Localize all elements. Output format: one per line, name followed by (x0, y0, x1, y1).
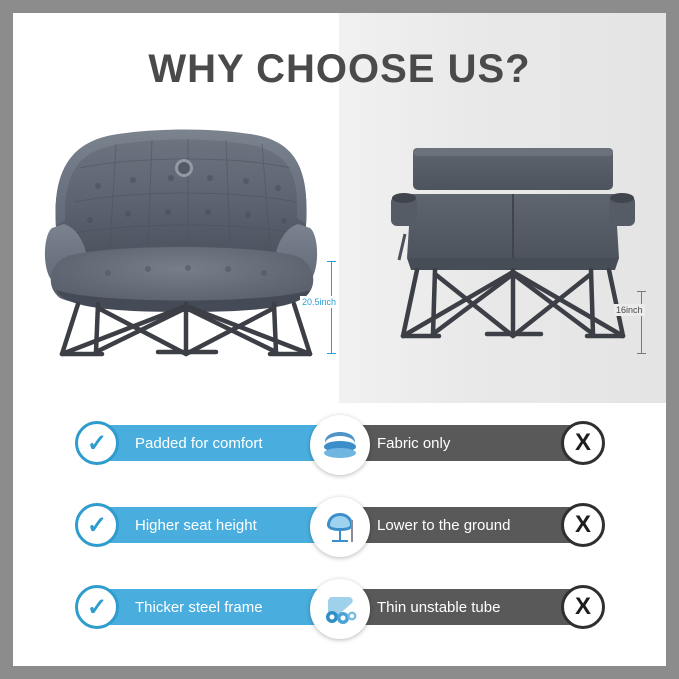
left-product-image (38, 108, 328, 358)
check-icon: ✓ (75, 503, 119, 547)
comparison-row: Higher seat height ✓ Lower to the ground… (75, 503, 605, 551)
cross-icon: X (561, 503, 605, 547)
cross-icon: X (561, 421, 605, 465)
cross-symbol: X (575, 511, 591, 539)
check-icon: ✓ (75, 421, 119, 465)
comparison-row: Thicker steel frame ✓ Thin unstable tube (75, 585, 605, 633)
pro-label: Padded for comfort (135, 435, 263, 452)
cross-icon: X (561, 585, 605, 629)
pro-pill: Padded for comfort (97, 425, 325, 461)
cross-symbol: X (575, 429, 591, 457)
con-label: Lower to the ground (377, 517, 510, 534)
steel-tube-icon (310, 579, 370, 639)
cushion-layers-icon (310, 415, 370, 475)
cross-symbol: X (575, 593, 591, 621)
con-pill: Fabric only (355, 425, 583, 461)
check-symbol: ✓ (87, 593, 107, 622)
comparison-row: Padded for comfort ✓ Fabric only X (75, 421, 605, 469)
con-label: Thin unstable tube (377, 599, 500, 616)
con-label: Fabric only (377, 435, 450, 452)
check-symbol: ✓ (87, 511, 107, 540)
comparison-table: Padded for comfort ✓ Fabric only X (13, 411, 666, 666)
pro-pill: Thicker steel frame (97, 589, 325, 625)
pro-pill: Higher seat height (97, 507, 325, 543)
check-icon: ✓ (75, 585, 119, 629)
con-pill: Thin unstable tube (355, 589, 583, 625)
right-dimension-label: 16inch (614, 304, 645, 316)
right-product-image (383, 138, 643, 353)
left-dimension-label: 20.5inch (300, 296, 338, 308)
pro-label: Higher seat height (135, 517, 257, 534)
pro-label: Thicker steel frame (135, 599, 263, 616)
page-title: WHY CHOOSE US? (13, 47, 666, 92)
seat-height-icon (310, 497, 370, 557)
con-pill: Lower to the ground (355, 507, 583, 543)
check-symbol: ✓ (87, 429, 107, 458)
product-infographic-card: WHY CHOOSE US? (13, 13, 666, 666)
